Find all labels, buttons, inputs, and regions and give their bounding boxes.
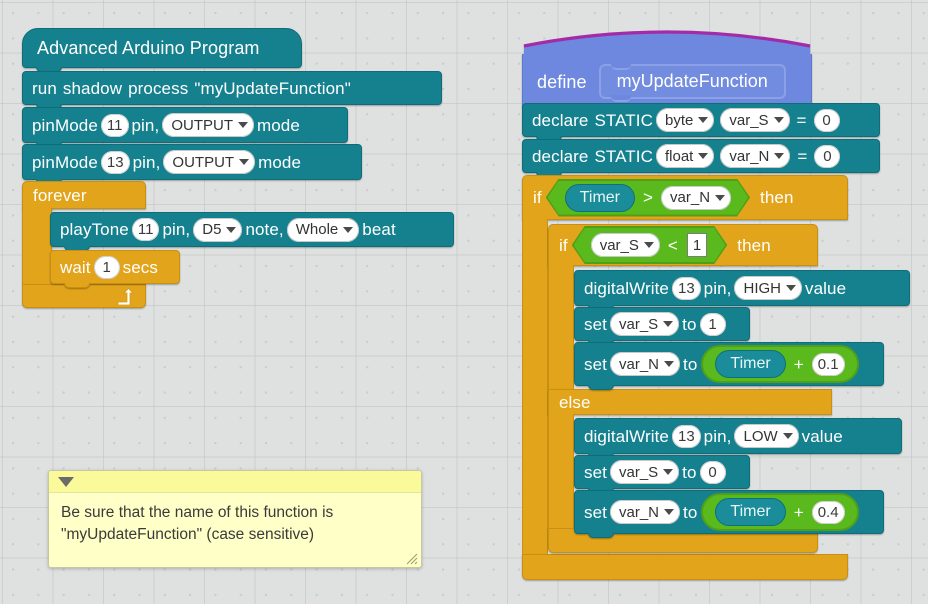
note-dropdown[interactable]: D5 [193, 218, 242, 242]
initial-value-field[interactable]: 0 [814, 109, 840, 132]
mode-dropdown[interactable]: OUTPUT [163, 150, 255, 174]
chevron-down-icon [663, 321, 673, 327]
set-label: set [584, 464, 607, 481]
collapse-triangle-icon[interactable] [58, 477, 74, 487]
set-label: set [584, 316, 607, 333]
pin-number-field[interactable]: 13 [101, 151, 130, 174]
type-dropdown[interactable]: float [656, 144, 714, 168]
inner-if-condition[interactable]: var_S < 1 [572, 226, 728, 264]
pinmode-label: pinMode [32, 154, 98, 171]
comment-line-2: "myUpdateFunction" (case sensitive) [61, 524, 409, 546]
variable-dropdown[interactable]: var_S [720, 108, 789, 132]
addition-operator-block[interactable]: Timer + 0.1 [701, 345, 858, 383]
else-keyword: else [559, 394, 591, 411]
outer-if-footer [522, 554, 848, 580]
pinmode-block-13[interactable]: pinMode 13 pin, OUTPUT mode [22, 144, 362, 180]
chevron-down-icon [343, 227, 353, 233]
pin-word: pin, [133, 154, 161, 171]
chevron-down-icon [715, 195, 725, 201]
define-body[interactable]: define myUpdateFunction [522, 54, 812, 110]
pin-word: pin, [704, 428, 732, 445]
timer-reporter[interactable]: Timer [715, 498, 785, 526]
pin-number-field[interactable]: 11 [101, 114, 129, 137]
mode-dropdown-value: OUTPUT [171, 117, 233, 134]
equals-sign: = [797, 112, 807, 129]
declare-keyword: declare [532, 148, 588, 165]
variable-dropdown-value: var_S [729, 112, 768, 129]
value-dropdown-value: LOW [743, 428, 777, 445]
wait-seconds-field[interactable]: 1 [94, 256, 120, 279]
storage-keyword: STATIC [594, 148, 653, 165]
to-keyword: to [683, 356, 697, 373]
variable-dropdown-value: var_S [619, 464, 658, 481]
if-keyword: if [533, 189, 542, 206]
greater-than-operator-block[interactable]: Timer > var_N [548, 181, 748, 215]
variable-dropdown-value: var_N [619, 356, 659, 373]
addend-field[interactable]: 0.4 [812, 501, 845, 524]
set-value-field[interactable]: 1 [700, 313, 726, 336]
outer-if-condition[interactable]: Timer > var_N [546, 179, 750, 217]
pinmode-label: pinMode [32, 117, 98, 134]
mode-word: mode [257, 117, 300, 134]
chevron-down-icon [226, 227, 236, 233]
declare-block-var-n[interactable]: declare STATIC float var_N = 0 [522, 139, 880, 173]
variable-dropdown-value: var_S [619, 316, 658, 333]
declare-block-var-s[interactable]: declare STATIC byte var_S = 0 [522, 103, 880, 137]
set-block-var-s-1[interactable]: set var_S to 1 [574, 307, 750, 341]
chevron-down-icon [644, 242, 654, 248]
less-than-operator-block[interactable]: var_S < 1 [574, 228, 726, 262]
comment-balloon[interactable]: Be sure that the name of this function i… [48, 470, 422, 568]
value-word: value [802, 428, 843, 445]
variable-dropdown-value: var_S [600, 237, 639, 254]
chevron-down-icon [698, 153, 708, 159]
pinmode-block-11[interactable]: pinMode 11 pin, OUTPUT mode [22, 107, 348, 143]
digitalwrite-block-low[interactable]: digitalWrite 13 pin, LOW value [574, 418, 902, 454]
variable-dropdown[interactable]: var_N [610, 352, 680, 376]
variable-dropdown[interactable]: var_N [610, 500, 680, 524]
block-notch [64, 283, 90, 288]
digitalwrite-label: digitalWrite [584, 280, 669, 297]
declare-keyword: declare [532, 112, 588, 129]
forever-spine [22, 208, 52, 284]
outer-if-header[interactable]: if Timer > var_N then [522, 175, 848, 220]
addition-operator-block[interactable]: Timer + 0.4 [701, 493, 858, 531]
variable-dropdown-value: var_N [729, 148, 769, 165]
plus-operator: + [794, 356, 804, 373]
wait-label: wait [60, 259, 91, 276]
equals-sign: = [797, 148, 807, 165]
resize-grip-icon[interactable] [406, 553, 418, 565]
chevron-down-icon [239, 159, 249, 165]
value-word: value [805, 280, 846, 297]
wait-unit: secs [123, 259, 158, 276]
shadow-keyword: shadow [63, 80, 122, 97]
type-dropdown-value: float [665, 148, 693, 165]
chevron-down-icon [664, 361, 674, 367]
block-notch [588, 533, 614, 538]
digitalwrite-label: digitalWrite [584, 428, 669, 445]
variable-dropdown-value: var_N [670, 189, 710, 206]
value-dropdown[interactable]: LOW [734, 424, 798, 448]
plus-operator: + [794, 504, 804, 521]
define-arch-top [522, 20, 812, 54]
pin-number-field[interactable]: 13 [672, 277, 701, 300]
to-keyword: to [682, 316, 696, 333]
define-function-block[interactable]: define myUpdateFunction [522, 20, 812, 110]
initial-value-field[interactable]: 0 [814, 145, 840, 168]
run-keyword: run [32, 80, 57, 97]
mode-word: mode [258, 154, 301, 171]
value-dropdown[interactable]: HIGH [734, 276, 802, 300]
beat-word: beat [362, 221, 396, 238]
variable-dropdown[interactable]: var_S [610, 460, 679, 484]
comment-line-1: Be sure that the name of this function i… [61, 502, 409, 524]
pin-word: pin, [132, 117, 160, 134]
variable-dropdown[interactable]: var_N [720, 144, 790, 168]
set-block-var-n-timer-plus[interactable]: set var_N to Timer + 0.1 [574, 342, 884, 386]
pin-word: pin, [162, 221, 190, 238]
block-notch [588, 385, 614, 390]
mode-dropdown[interactable]: OUTPUT [162, 113, 254, 137]
addend-field[interactable]: 0.1 [812, 353, 845, 376]
inner-if-header[interactable]: if var_S < 1 then [548, 224, 818, 266]
inner-if-then-spine [548, 265, 574, 389]
chevron-down-icon [664, 509, 674, 515]
then-keyword: then [737, 237, 771, 254]
loop-arrow-icon [115, 288, 137, 305]
define-keyword: define [537, 73, 587, 91]
type-dropdown-value: byte [665, 112, 693, 129]
to-keyword: to [683, 504, 697, 521]
run-shadow-process-block[interactable]: run shadow process "myUpdateFunction" [22, 71, 442, 105]
wait-block[interactable]: wait 1 secs [50, 250, 180, 284]
comparison-value-field[interactable]: 1 [687, 233, 707, 257]
variable-dropdown[interactable]: var_S [591, 233, 660, 257]
set-label: set [584, 504, 607, 521]
then-keyword: then [760, 189, 794, 206]
type-dropdown[interactable]: byte [656, 108, 714, 132]
chevron-down-icon [663, 469, 673, 475]
variable-dropdown-value: var_N [619, 504, 659, 521]
if-keyword: if [559, 237, 568, 254]
note-dropdown-value: D5 [202, 221, 221, 238]
chevron-down-icon [783, 433, 793, 439]
pin-number-field[interactable]: 13 [672, 425, 701, 448]
hat-block-label: Advanced Arduino Program [37, 39, 260, 57]
blockly-workspace[interactable]: Advanced Arduino Program run shadow proc… [0, 0, 928, 604]
comment-text[interactable]: Be sure that the name of this function i… [49, 493, 421, 555]
to-keyword: to [682, 464, 696, 481]
chevron-down-icon [238, 122, 248, 128]
note-word: note, [245, 221, 283, 238]
process-function-name[interactable]: "myUpdateFunction" [194, 80, 351, 97]
hat-block-program-title[interactable]: Advanced Arduino Program [22, 28, 302, 68]
chevron-down-icon [774, 153, 784, 159]
digitalwrite-block-high[interactable]: digitalWrite 13 pin, HIGH value [574, 270, 910, 306]
define-function-name[interactable]: myUpdateFunction [599, 64, 786, 99]
process-keyword: process [128, 80, 188, 97]
playtone-pin-field[interactable]: 11 [132, 218, 160, 241]
variable-dropdown[interactable]: var_N [661, 186, 731, 210]
outer-if-spine [522, 219, 548, 554]
chevron-down-icon [774, 117, 784, 123]
inner-if-else-spine [548, 414, 574, 528]
beat-dropdown-value: Whole [296, 221, 339, 238]
timer-reporter[interactable]: Timer [715, 350, 785, 378]
playtone-block[interactable]: playTone 11 pin, D5 note, Whole beat [50, 212, 454, 247]
chevron-down-icon [698, 117, 708, 123]
forever-label: forever [33, 187, 87, 204]
set-block-var-s-0[interactable]: set var_S to 0 [574, 455, 750, 489]
forever-header[interactable]: forever [22, 181, 146, 209]
pin-word: pin, [704, 280, 732, 297]
else-header[interactable]: else [548, 389, 832, 415]
beat-dropdown[interactable]: Whole [287, 218, 360, 242]
comment-header[interactable] [49, 471, 421, 493]
comparison-operator: > [643, 189, 653, 206]
forever-block[interactable]: forever [22, 181, 146, 209]
chevron-down-icon [786, 285, 796, 291]
timer-reporter[interactable]: Timer [565, 184, 635, 212]
comparison-operator: < [668, 237, 678, 254]
storage-keyword: STATIC [594, 112, 653, 129]
playtone-label: playTone [60, 221, 129, 238]
set-value-field[interactable]: 0 [700, 461, 726, 484]
set-label: set [584, 356, 607, 373]
variable-dropdown[interactable]: var_S [610, 312, 679, 336]
value-dropdown-value: HIGH [743, 280, 781, 297]
set-block-var-n-timer-plus-else[interactable]: set var_N to Timer + 0.4 [574, 490, 884, 534]
mode-dropdown-value: OUTPUT [172, 154, 234, 171]
